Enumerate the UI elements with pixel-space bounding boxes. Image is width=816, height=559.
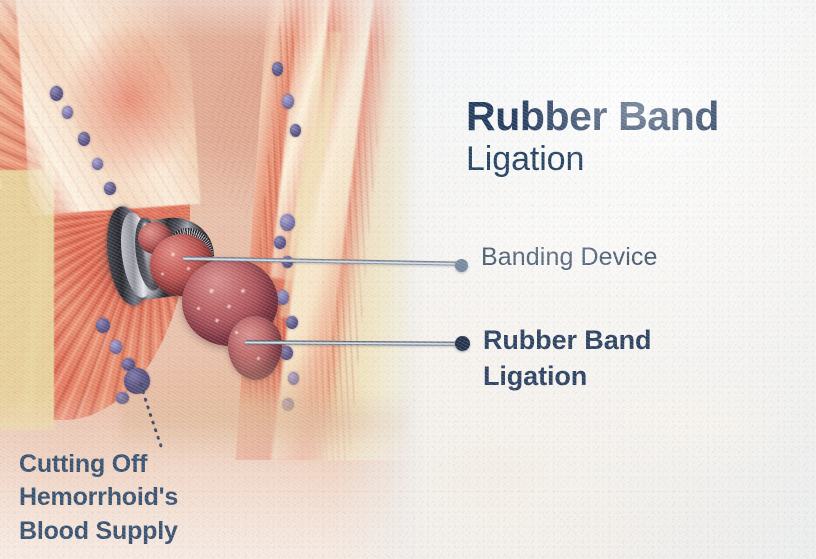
callout-label-rubber-band-ligation: Rubber Band Ligation bbox=[483, 323, 783, 395]
callout-label-line-2: Ligation bbox=[483, 359, 783, 395]
caption-line-3: Blood Supply bbox=[19, 515, 279, 548]
vein-node bbox=[92, 158, 103, 170]
infographic-canvas: Rubber Band Ligation Banding Device Rubb… bbox=[0, 0, 816, 559]
tissue-highlight bbox=[226, 304, 232, 309]
caption-blood-supply: Cutting Off Hemorrhoid's Blood Supply bbox=[19, 448, 279, 548]
vein-node bbox=[110, 340, 122, 354]
tissue-highlight bbox=[240, 288, 246, 294]
vein-node bbox=[282, 94, 294, 109]
vein-node bbox=[96, 318, 110, 333]
tissue-highlight bbox=[170, 252, 176, 257]
tissue-highlight bbox=[234, 330, 239, 335]
vein-node bbox=[50, 86, 63, 101]
title-line-1: Rubber Band bbox=[466, 96, 796, 137]
illustration-right-fade bbox=[334, 0, 424, 559]
caption-line-1: Cutting Off bbox=[19, 448, 279, 481]
title-line-2: Ligation bbox=[466, 142, 796, 176]
tissue-highlight bbox=[208, 288, 215, 294]
vein-node bbox=[286, 316, 298, 329]
tissue-highlight bbox=[160, 272, 165, 276]
caption-line-2: Hemorrhoid's bbox=[19, 481, 279, 514]
vein-node bbox=[290, 124, 301, 137]
tissue-highlight bbox=[186, 266, 191, 271]
vein-node bbox=[280, 214, 295, 231]
tissue-highlight bbox=[214, 318, 220, 323]
leader-dot-rubber-band bbox=[455, 336, 470, 351]
vein-node bbox=[78, 132, 90, 146]
leader-dot-banding-device bbox=[455, 259, 468, 272]
vein-node bbox=[104, 182, 116, 195]
callout-label-banding-device: Banding Device bbox=[481, 243, 801, 272]
page-title: Rubber Band Ligation bbox=[466, 96, 796, 176]
vein-node bbox=[62, 106, 73, 119]
vein-node bbox=[272, 62, 283, 76]
vein-node bbox=[274, 236, 286, 249]
tissue-highlight bbox=[196, 306, 201, 311]
callout-label-line-1: Rubber Band bbox=[483, 323, 783, 359]
